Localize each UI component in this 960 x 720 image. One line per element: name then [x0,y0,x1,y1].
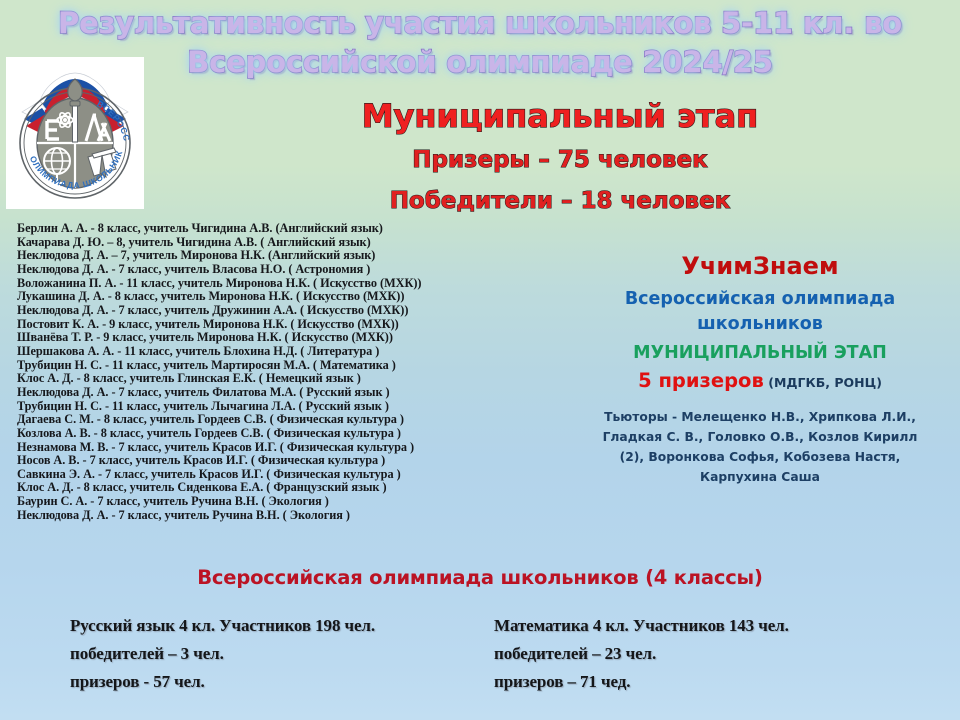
uchimznaem-olympiad-line-2: школьников [560,312,960,337]
list-item: Клос А. Д. - 8 класс, учитель Сиденкова … [17,481,497,495]
list-item: Незнамова М. В. - 7 класс, учитель Красо… [17,441,497,455]
uchimznaem-tutors-text: Тьюторы - Мелещенко Н.В., Хрипкова Л.И.,… [590,408,930,488]
bottom-columns: Русский язык 4 кл. Участников 198 чел. п… [0,612,960,712]
page-title-line-1: Результативность участия школьников 5-11… [0,4,960,43]
list-item: Шершакова А. А. - 11 класс, учитель Блох… [17,345,497,359]
uchimznaem-prize-orgs: (МДГКБ, РОНЦ) [768,375,882,390]
bottom-section-heading: Всероссийская олимпиада школьников (4 кл… [0,566,960,589]
uchimznaem-brand-title: УчимЗнаем [560,252,960,281]
page-title-line-2: Всероссийской олимпиаде 2024/25 [0,43,960,82]
list-item: Постовит К. А. - 9 класс, учитель Мироно… [17,318,497,332]
olympiad-emblem-icon: ОЛИМПИАДА ШКОЛЬНИКОВ ВСЕРОССИЙСКАЯ [6,57,144,209]
uchimznaem-prize-count: 5 призеров [638,369,764,392]
list-item: Берлин А. А. - 8 класс, учитель Чигидина… [17,222,497,236]
uchimznaem-prize-row: 5 призеров (МДГКБ, РОНЦ) [560,368,960,394]
stage-heading: Муниципальный этап [160,99,960,134]
list-item: Носов А. В. - 7 класс, учитель Красов И.… [17,454,497,468]
list-item: Клос А. Д. - 8 класс, учитель Глинская Е… [17,372,497,386]
subject-winners-line: победителей – 3 чел. [70,640,375,668]
list-item: Качарава Д. Ю. – 8, учитель Чигидина А.В… [17,236,497,250]
subject-winners-line: победителей – 23 чел. [494,640,789,668]
list-item: Трубицин Н. С. - 11 класс, учитель Марти… [17,359,497,373]
list-item: Савкина Э. А. - 7 класс, учитель Красов … [17,468,497,482]
uchimznaem-stage-label: МУНИЦИПАЛЬНЫЙ ЭТАП [560,340,960,366]
uchimznaem-panel: УчимЗнаем Всероссийская олимпиада школьн… [560,252,960,488]
list-item: Шванёва Т. Р. - 9 класс, учитель Миронов… [17,331,497,345]
subject-prizewinners-line: призеров – 71 чед. [494,668,789,696]
uchimznaem-olympiad-line-1: Всероссийская олимпиада [560,287,960,312]
presentation-slide: Результативность участия школьников 5-11… [0,0,960,720]
subject-participants-line: Математика 4 кл. Участников 143 чел. [494,612,789,640]
list-item: Трубицин Н. С. - 11 класс, учитель Лычаг… [17,400,497,414]
list-item: Неклюдова Д. А. – 7, учитель Миронова Н.… [17,249,497,263]
bottom-column-russian: Русский язык 4 кл. Участников 198 чел. п… [70,612,375,696]
page-title: Результативность участия школьников 5-11… [0,4,960,81]
list-item: Неклюдова Д. А. - 7 класс, учитель Ручин… [17,509,497,523]
list-item: Лукашина Д. А. - 8 класс, учитель Мироно… [17,290,497,304]
list-item: Неклюдова Д. А. - 7 класс, учитель Дружи… [17,304,497,318]
stage-prizewinners-count: Призеры – 75 человек [160,148,960,173]
olympiad-emblem-logo: ОЛИМПИАДА ШКОЛЬНИКОВ ВСЕРОССИЙСКАЯ [6,57,144,209]
subject-participants-line: Русский язык 4 кл. Участников 198 чел. [70,612,375,640]
bottom-column-math: Математика 4 кл. Участников 143 чел. поб… [494,612,789,696]
list-item: Неклюдова Д. А. - 7 класс, учитель Филат… [17,386,497,400]
list-item: Воложанина П. А. - 11 класс, учитель Мир… [17,277,497,291]
list-item: Неклюдова Д. А. - 7 класс, учитель Власо… [17,263,497,277]
list-item: Баурин С. А. - 7 класс, учитель Ручина В… [17,495,497,509]
stage-winners-count: Победители – 18 человек [160,189,960,214]
list-item: Дагаева С. М. - 8 класс, учитель Гордеев… [17,413,497,427]
list-item: Козлова А. В. - 8 класс, учитель Гордеев… [17,427,497,441]
winners-list: Берлин А. А. - 8 класс, учитель Чигидина… [17,222,497,522]
subject-prizewinners-line: призеров - 57 чел. [70,668,375,696]
